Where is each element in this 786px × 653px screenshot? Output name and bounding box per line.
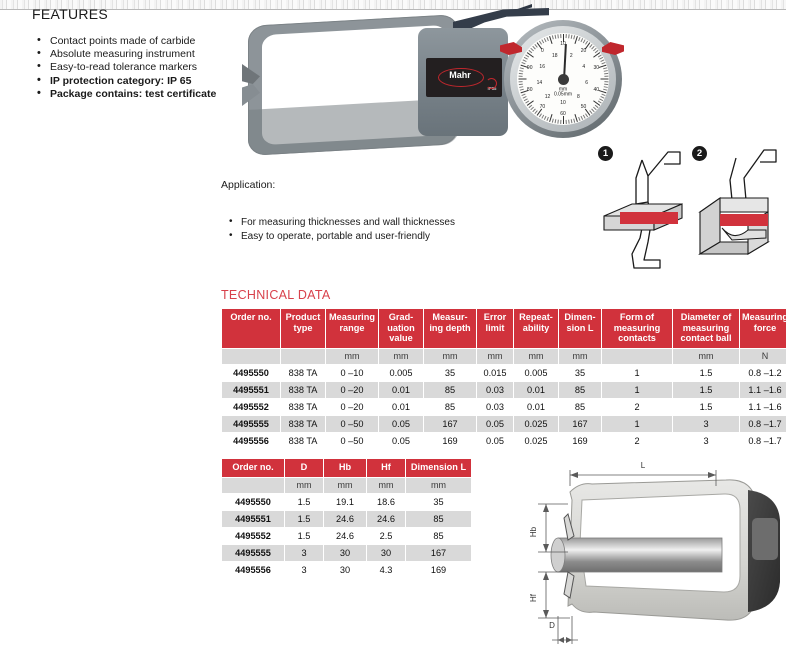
feature-item: Package contains: test certificate — [35, 88, 225, 101]
col-header-contact-ball-diameter: Diameter of measuring contact ball — [673, 309, 739, 348]
cell-order-no: 4495556 — [222, 433, 280, 449]
technical-data-body: 4495550838 TA0 –100.005350.0150.0053511.… — [222, 365, 786, 449]
unit-cell: mm — [477, 349, 513, 364]
dimension-drawing-svg: L Hb Hf — [512, 456, 786, 648]
table-cell: 24.6 — [324, 528, 366, 544]
table-cell: 0 –20 — [326, 399, 378, 415]
table-cell: 0.8 –1.7 — [740, 433, 786, 449]
dial-number-inner: 10 — [560, 100, 566, 106]
table-cell: 838 TA — [281, 416, 325, 432]
table-cell: 85 — [406, 511, 471, 527]
diagram-badge-2: 2 — [692, 146, 707, 161]
table-cell: 3 — [673, 433, 739, 449]
datasheet-page: FEATURES Contact points made of carbide … — [0, 0, 786, 648]
dimension-table-units-row: mm mm mm mm — [222, 478, 471, 493]
workpiece-block — [700, 198, 768, 254]
features-list: Contact points made of carbide Absolute … — [35, 35, 225, 101]
dial-number-inner: 16 — [539, 64, 545, 70]
table-cell: 0.01 — [379, 382, 423, 398]
unit-cell — [222, 478, 284, 493]
table-row: 4495555838 TA0 –500.051670.050.025167130… — [222, 416, 786, 432]
col-header-order-no: Order no. — [222, 459, 284, 477]
dim-label-d: D — [549, 621, 555, 630]
unit-cell: mm — [424, 349, 476, 364]
dial-number-outer: 60 — [560, 111, 566, 117]
diagram-2-svg — [692, 142, 780, 274]
dial-number-outer: 80 — [527, 87, 533, 93]
diagram-badge-1: 1 — [598, 146, 613, 161]
table-cell: 0.05 — [379, 433, 423, 449]
table-cell: 1.1 –1.6 — [740, 382, 786, 398]
table-cell: 0.01 — [514, 399, 558, 415]
table-cell: 0 –20 — [326, 382, 378, 398]
cell-order-no: 4495550 — [222, 494, 284, 510]
table-cell: 2 — [602, 433, 672, 449]
dim-label-hb: Hb — [529, 526, 538, 537]
table-cell: 0 –50 — [326, 433, 378, 449]
dial-number-outer: 90 — [527, 65, 533, 71]
table-cell: 85 — [406, 528, 471, 544]
cell-order-no: 4495555 — [222, 416, 280, 432]
dimension-drawing: L Hb Hf — [512, 456, 786, 648]
table-cell: 3 — [285, 562, 323, 578]
col-header-dimension-l: Dimen-sion L — [559, 309, 601, 348]
technical-data-table: Order no. Product type Measuring range G… — [221, 308, 786, 450]
table-cell: 0.015 — [477, 365, 513, 381]
table-cell: 0.8 –1.7 — [740, 416, 786, 432]
table-cell: 838 TA — [281, 399, 325, 415]
col-header-measuring-range: Measuring range — [326, 309, 378, 348]
table-cell: 0.025 — [514, 433, 558, 449]
table-cell: 838 TA — [281, 382, 325, 398]
unit-cell: mm — [285, 478, 323, 493]
table-cell: 1 — [602, 365, 672, 381]
table-cell: 30 — [367, 545, 405, 561]
technical-data-units-row: mm mm mm mm mm mm mm N — [222, 349, 786, 364]
dial-number-outer: 70 — [540, 104, 546, 110]
table-cell: 0.05 — [379, 416, 423, 432]
technical-data-header: Order no. Product type Measuring range G… — [222, 309, 786, 348]
cell-order-no: 4495552 — [222, 528, 284, 544]
dial-number-outer: 40 — [594, 87, 600, 93]
gauge-head-panel — [752, 518, 778, 560]
col-header-repeatability: Repeat-ability — [514, 309, 558, 348]
col-header-measuring-force: Measuring force — [740, 309, 786, 348]
unit-cell: mm — [673, 349, 739, 364]
header-row: Order no. Product type Measuring range G… — [222, 309, 786, 348]
table-cell: 1.5 — [673, 382, 739, 398]
table-row: 4495552838 TA0 –200.01850.030.018521.51.… — [222, 399, 786, 415]
table-row: 44955501.519.118.635 — [222, 494, 471, 510]
cell-order-no: 4495550 — [222, 365, 280, 381]
table-cell: 0.005 — [514, 365, 558, 381]
table-cell: 1.5 — [285, 511, 323, 527]
dimension-table: Order no. D Hb Hf Dimension L mm mm mm m… — [221, 458, 472, 579]
col-header-hf: Hf — [367, 459, 405, 477]
table-cell: 35 — [406, 494, 471, 510]
feature-item: Easy-to-read tolerance markers — [35, 61, 225, 74]
table-cell: 0.01 — [379, 399, 423, 415]
application-item: For measuring thicknesses and wall thick… — [228, 216, 558, 230]
table-cell: 0.01 — [514, 382, 558, 398]
dial-number-inner: 12 — [545, 94, 551, 100]
table-row: 44955563304.3169 — [222, 562, 471, 578]
unit-cell: mm — [326, 349, 378, 364]
table-row: 44955521.524.62.585 — [222, 528, 471, 544]
cell-order-no: 4495552 — [222, 399, 280, 415]
diagram-form-1: 1 — [598, 142, 686, 274]
table-cell: 1.5 — [673, 365, 739, 381]
header-row: Order no. D Hb Hf Dimension L — [222, 459, 471, 477]
col-header-graduation-value: Grad-uation value — [379, 309, 423, 348]
application-heading: Application: — [221, 179, 275, 191]
table-cell: 85 — [424, 399, 476, 415]
dial-hub — [558, 74, 569, 85]
table-cell: 838 TA — [281, 433, 325, 449]
table-cell: 35 — [559, 365, 601, 381]
col-header-measuring-depth: Measur-ing depth — [424, 309, 476, 348]
col-header-dimension-l: Dimension L — [406, 459, 471, 477]
col-header-form-of-contacts: Form of measuring contacts — [602, 309, 672, 348]
dial-number-inner: 14 — [537, 80, 543, 86]
table-cell: 838 TA — [281, 365, 325, 381]
table-cell: 167 — [406, 545, 471, 561]
cell-order-no: 4495551 — [222, 511, 284, 527]
unit-cell — [222, 349, 280, 364]
unit-cell: mm — [367, 478, 405, 493]
table-cell: 167 — [559, 416, 601, 432]
table-cell: 0.005 — [379, 365, 423, 381]
workpiece-plate — [604, 204, 682, 230]
table-cell: 167 — [424, 416, 476, 432]
unit-cell: mm — [406, 478, 471, 493]
dial-number-inner: 18 — [552, 53, 558, 59]
col-header-order-no: Order no. — [222, 309, 280, 348]
features-heading: FEATURES — [32, 6, 108, 22]
table-cell: 169 — [406, 562, 471, 578]
col-header-hb: Hb — [324, 459, 366, 477]
table-cell: 0 –50 — [326, 416, 378, 432]
workpiece-shaft-end — [551, 538, 565, 572]
feature-item: IP protection category: IP 65 — [35, 75, 225, 88]
product-photo: Mahr IP65 mm 0.05mm 10203040506070809002… — [228, 8, 628, 158]
units-row: mm mm mm mm mm mm mm N — [222, 349, 786, 364]
table-cell: 1.5 — [285, 528, 323, 544]
dial-number-outer: 0 — [541, 48, 544, 54]
table-cell: 169 — [424, 433, 476, 449]
table-row: 4495556838 TA0 –500.051690.050.025169230… — [222, 433, 786, 449]
dim-label-l: L — [641, 461, 646, 470]
dial-number-outer: 50 — [581, 104, 587, 110]
table-row: 44955511.524.624.685 — [222, 511, 471, 527]
table-cell: 19.1 — [324, 494, 366, 510]
table-cell: 24.6 — [367, 511, 405, 527]
table-row: 449555533030167 — [222, 545, 471, 561]
table-cell: 0.8 –1.2 — [740, 365, 786, 381]
dim-label-hf: Hf — [529, 593, 538, 602]
dim-line-d — [552, 616, 578, 644]
unit-cell: mm — [324, 478, 366, 493]
application-item: Easy to operate, portable and user-frien… — [228, 230, 558, 244]
table-cell: 1.1 –1.6 — [740, 399, 786, 415]
table-cell: 3 — [673, 416, 739, 432]
table-cell: 2.5 — [367, 528, 405, 544]
table-cell: 85 — [559, 382, 601, 398]
dial-number-inner: 4 — [582, 64, 585, 70]
table-row: 4495551838 TA0 –200.01850.030.018511.51.… — [222, 382, 786, 398]
workpiece-shaft — [558, 538, 722, 572]
table-cell: 24.6 — [324, 511, 366, 527]
table-cell: 0.05 — [477, 433, 513, 449]
col-header-product-type: Product type — [281, 309, 325, 348]
table-cell: 85 — [424, 382, 476, 398]
application-list: For measuring thicknesses and wall thick… — [228, 216, 558, 244]
table-cell: 3 — [285, 545, 323, 561]
brand-label: Mahr — [440, 70, 480, 80]
dial-number-inner: 8 — [577, 94, 580, 100]
units-row: mm mm mm mm — [222, 478, 471, 493]
table-cell: 35 — [424, 365, 476, 381]
table-cell: 1.5 — [285, 494, 323, 510]
diagram-1-svg — [598, 142, 686, 274]
feature-item: Absolute measuring instrument — [35, 48, 225, 61]
table-cell: 2 — [602, 399, 672, 415]
unit-cell: mm — [379, 349, 423, 364]
table-cell: 169 — [559, 433, 601, 449]
technical-data-heading: TECHNICAL DATA — [221, 288, 331, 302]
dial-number-outer: 20 — [581, 48, 587, 54]
feature-item: Contact points made of carbide — [35, 35, 225, 48]
table-cell: 0.03 — [477, 399, 513, 415]
table-cell: 1 — [602, 416, 672, 432]
cell-order-no: 4495556 — [222, 562, 284, 578]
unit-cell — [602, 349, 672, 364]
table-cell: 18.6 — [367, 494, 405, 510]
table-cell: 85 — [559, 399, 601, 415]
dimension-table-body: 44955501.519.118.63544955511.524.624.685… — [222, 494, 471, 578]
unit-cell: mm — [514, 349, 558, 364]
dial-number-outer: 30 — [594, 65, 600, 71]
ip65-badge-icon: IP65 — [484, 82, 500, 95]
dial-number-inner: 6 — [585, 80, 588, 86]
table-cell: 1 — [602, 382, 672, 398]
table-row: 4495550838 TA0 –100.005350.0150.0053511.… — [222, 365, 786, 381]
dial-number-inner: 2 — [570, 53, 573, 59]
unit-cell — [281, 349, 325, 364]
table-cell: 1.5 — [673, 399, 739, 415]
cell-order-no: 4495551 — [222, 382, 280, 398]
cell-order-no: 4495555 — [222, 545, 284, 561]
dimension-table-header: Order no. D Hb Hf Dimension L — [222, 459, 471, 477]
contact-form-diagrams: 1 2 — [596, 142, 782, 274]
table-cell: 0 –10 — [326, 365, 378, 381]
table-cell: 4.3 — [367, 562, 405, 578]
diagram-form-2: 2 — [692, 142, 780, 274]
col-header-error-limit: Error limit — [477, 309, 513, 348]
table-cell: 0.03 — [477, 382, 513, 398]
table-cell: 0.05 — [477, 416, 513, 432]
table-cell: 0.025 — [514, 416, 558, 432]
table-cell: 30 — [324, 562, 366, 578]
unit-cell: N — [740, 349, 786, 364]
unit-cell: mm — [559, 349, 601, 364]
table-cell: 30 — [324, 545, 366, 561]
col-header-d: D — [285, 459, 323, 477]
